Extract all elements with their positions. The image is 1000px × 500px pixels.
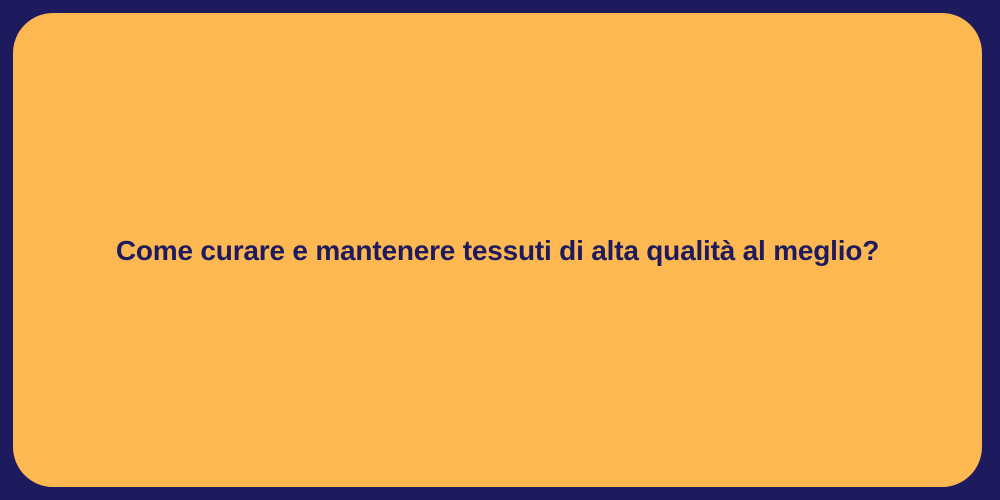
page-title: Come curare e mantenere tessuti di alta … [92, 233, 903, 268]
content-card: Come curare e mantenere tessuti di alta … [13, 13, 982, 487]
outer-frame: Come curare e mantenere tessuti di alta … [0, 0, 1000, 500]
